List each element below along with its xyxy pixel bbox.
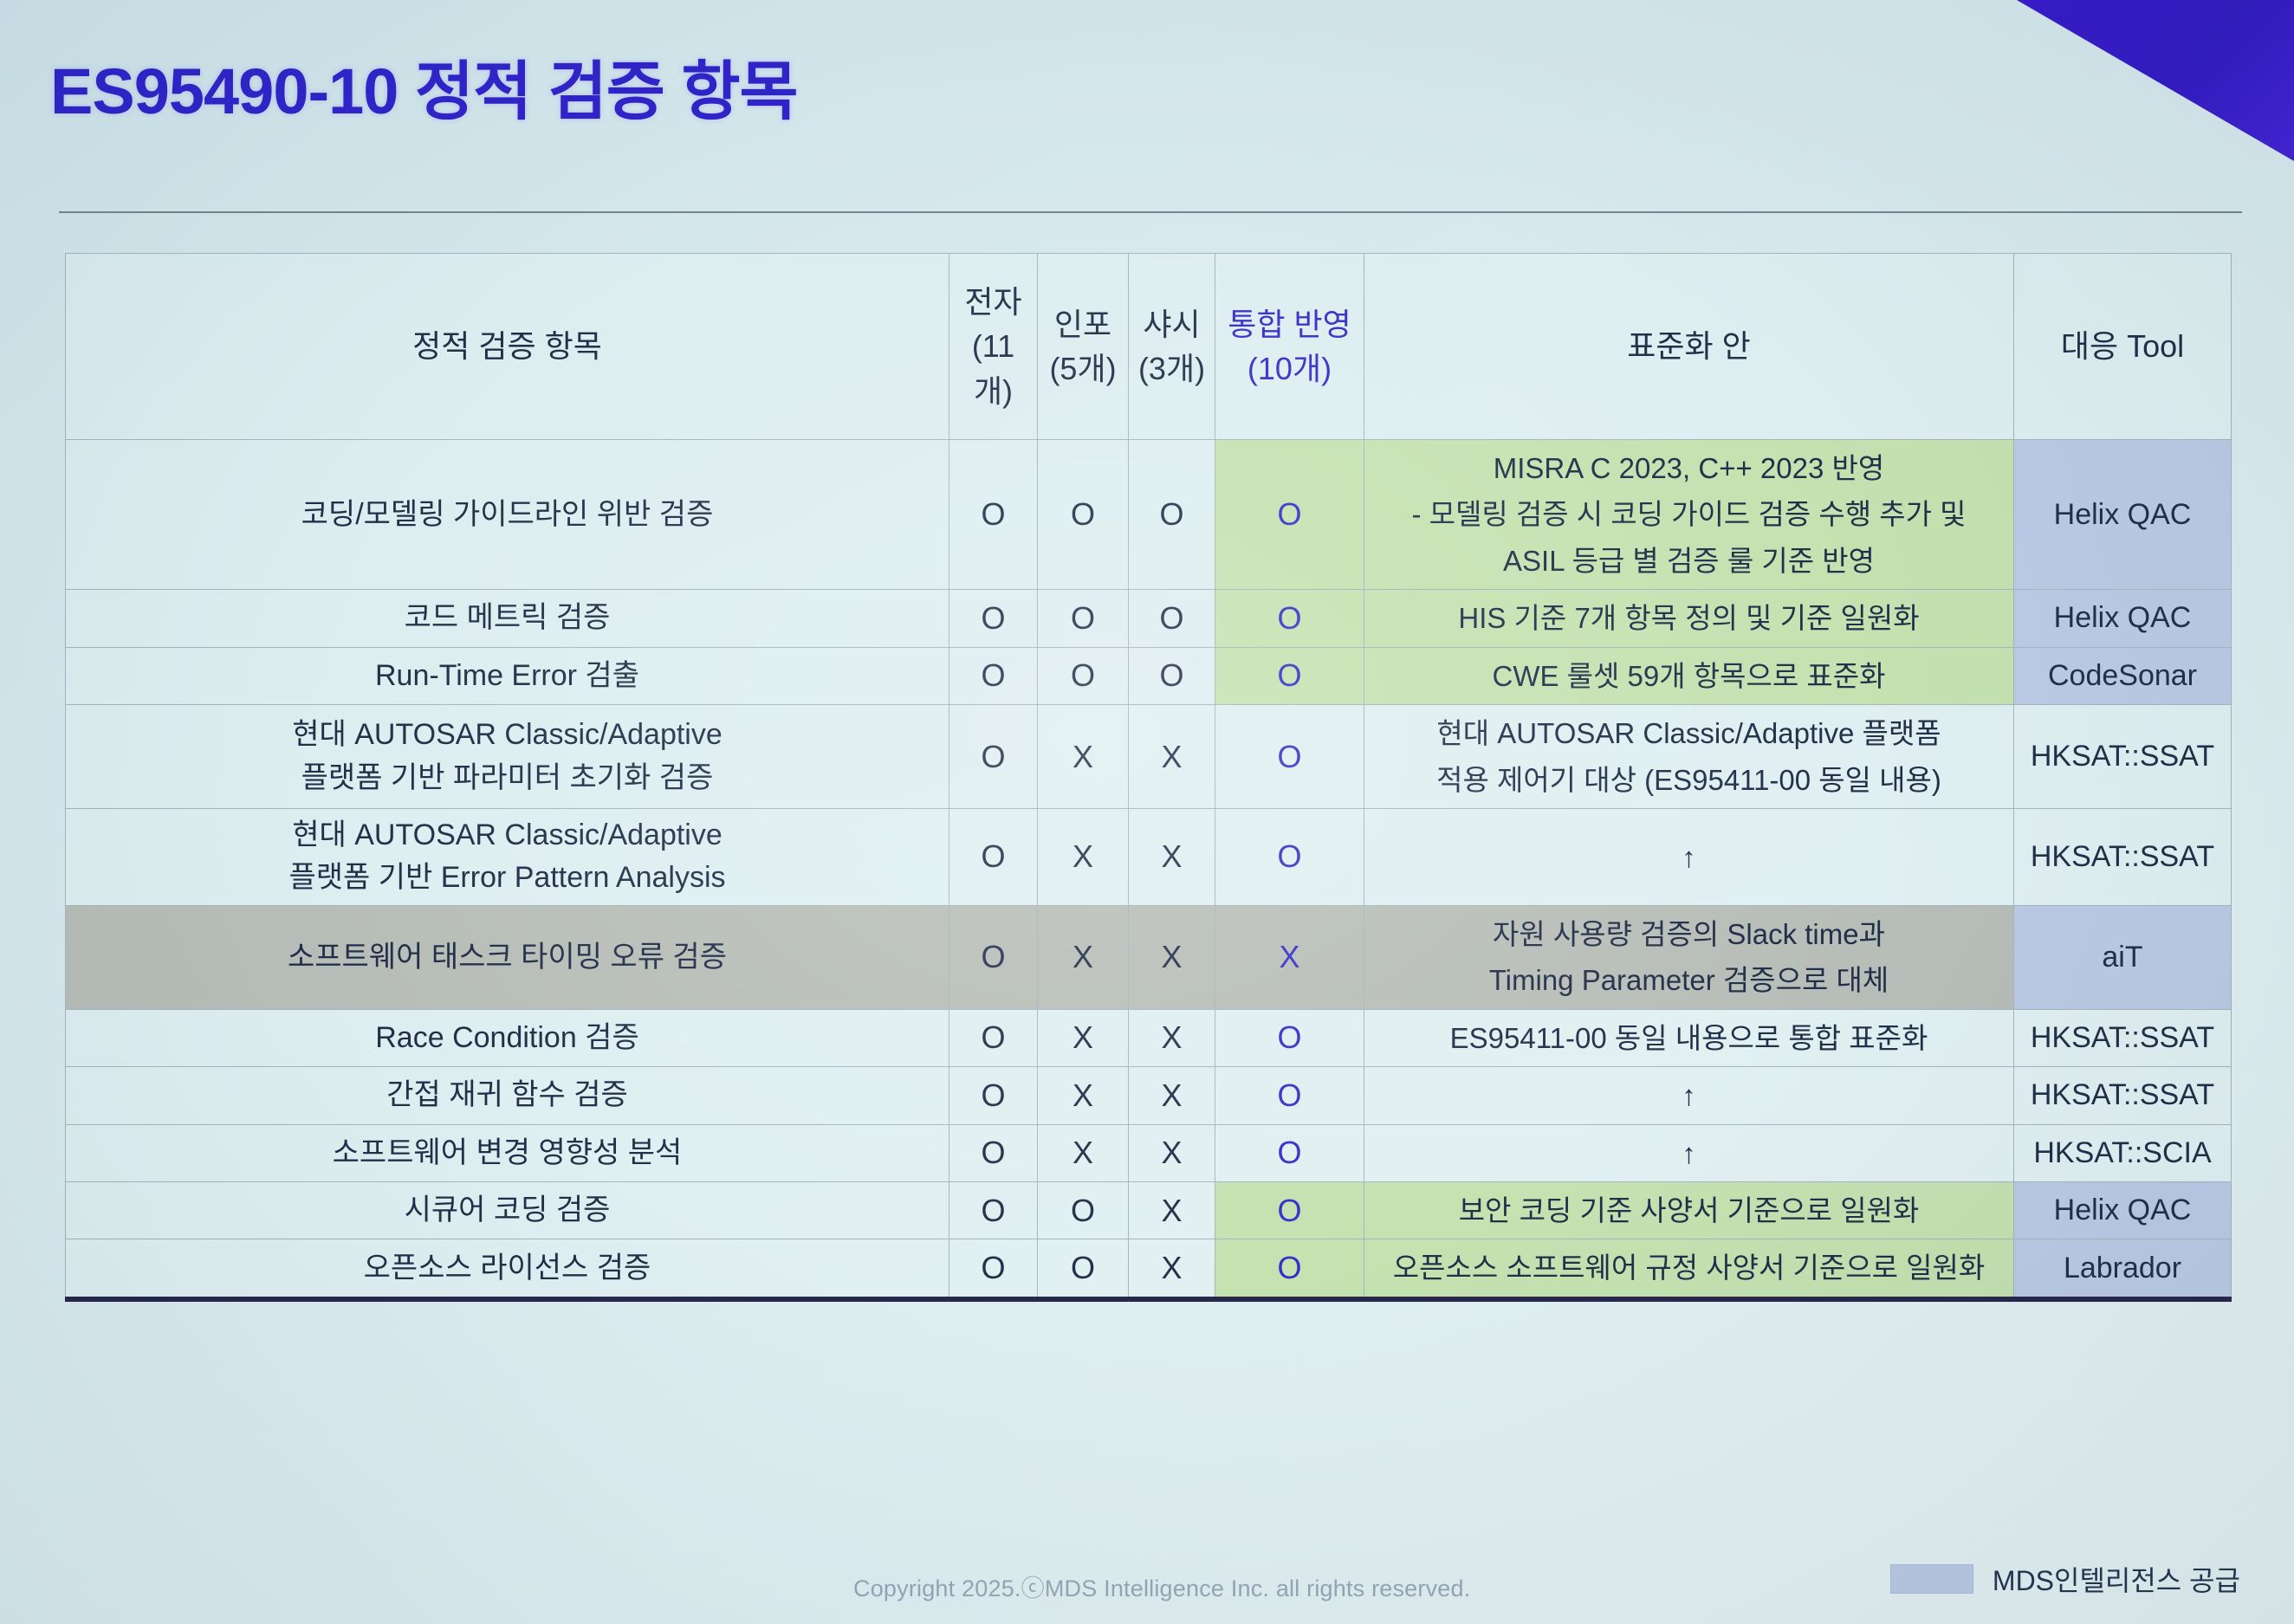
cell-mark-integrated: O [1215, 809, 1364, 906]
brand-label: MDS인텔리전스 공급 [1993, 1559, 2240, 1599]
item-line: 시큐어 코딩 검증 [73, 1189, 942, 1232]
cell-standardization-plan: ↑ [1364, 809, 2014, 906]
standardization-line: MISRA C 2023, C++ 2023 반영 [1371, 445, 2006, 491]
cell-tool: CodeSonar [2014, 647, 2232, 704]
cell-mark-integrated: O [1215, 440, 1364, 590]
cell-standardization-plan: 자원 사용량 검증의 Slack time과Timing Parameter 검… [1364, 905, 2014, 1009]
cell-tool: Helix QAC [2014, 590, 2232, 647]
cell-mark-electronics: O [949, 1182, 1038, 1239]
cell-verification-item: Race Condition 검증 [66, 1009, 949, 1066]
column-header-label: 대응 Tool [2021, 324, 2224, 368]
column-header-count: (5개) [1045, 346, 1121, 391]
cell-verification-item: 현대 AUTOSAR Classic/Adaptive플랫폼 기반 파라미터 초… [66, 705, 949, 809]
verification-items-table-wrap: 정적 검증 항목전자(11개)인포(5개)샤시(3개)통합 반영(10개)표준화… [65, 253, 2231, 1302]
cell-verification-item: Run-Time Error 검출 [66, 647, 949, 704]
cell-mark-chassis: X [1129, 1009, 1215, 1066]
item-line: 코딩/모델링 가이드라인 위반 검증 [73, 494, 942, 536]
column-header-label: 정적 검증 항목 [73, 324, 942, 368]
cell-verification-item: 코딩/모델링 가이드라인 위반 검증 [66, 440, 949, 590]
cell-mark-electronics: O [949, 590, 1038, 647]
cell-tool: aiT [2014, 905, 2232, 1009]
standardization-line: 자원 사용량 검증의 Slack time과 [1371, 911, 2006, 957]
cell-mark-integrated: O [1215, 705, 1364, 809]
cell-verification-item: 간접 재귀 함수 검증 [66, 1067, 949, 1124]
cell-mark-info: X [1038, 705, 1129, 809]
standardization-line: Timing Parameter 검증으로 대체 [1371, 957, 2006, 1003]
cell-mark-integrated: O [1215, 1182, 1364, 1239]
cell-verification-item: 시큐어 코딩 검증 [66, 1182, 949, 1239]
cell-mark-chassis: X [1129, 1239, 1215, 1299]
cell-mark-electronics: O [949, 705, 1038, 809]
standardization-line: 적용 제어기 대상 (ES95411-00 동일 내용) [1371, 757, 2006, 803]
item-line: 현대 AUTOSAR Classic/Adaptive [73, 814, 942, 857]
cell-mark-electronics: O [949, 809, 1038, 906]
standardization-line: - 모델링 검증 시 코딩 가이드 검증 수행 추가 및 [1371, 491, 2006, 537]
column-header-label: 표준화 안 [1371, 324, 2006, 368]
cell-mark-chassis: X [1129, 809, 1215, 906]
table-row: 소프트웨어 태스크 타이밍 오류 검증OXXX자원 사용량 검증의 Slack … [66, 905, 2232, 1009]
cell-mark-integrated: X [1215, 905, 1364, 1009]
corner-accent-triangle [2017, 0, 2294, 161]
table-row: Run-Time Error 검출OOOOCWE 룰셋 59개 항목으로 표준화… [66, 647, 2232, 704]
column-header-count: (11개) [956, 324, 1030, 412]
cell-verification-item: 소프트웨어 변경 영향성 분석 [66, 1124, 949, 1181]
cell-mark-chassis: X [1129, 1124, 1215, 1181]
column-header-6: 대응 Tool [2014, 254, 2232, 440]
standardization-line: ES95411-00 동일 내용으로 통합 표준화 [1371, 1015, 2006, 1061]
cell-mark-integrated: O [1215, 647, 1364, 704]
cell-mark-info: X [1038, 1067, 1129, 1124]
table-row: 오픈소스 라이선스 검증OOXO오픈소스 소프트웨어 규정 사양서 기준으로 일… [66, 1239, 2232, 1299]
cell-mark-integrated: O [1215, 1239, 1364, 1299]
cell-mark-integrated: O [1215, 1009, 1364, 1066]
item-line: 코드 메트릭 검증 [73, 597, 942, 639]
cell-verification-item: 소프트웨어 태스크 타이밍 오류 검증 [66, 905, 949, 1009]
cell-mark-info: O [1038, 1182, 1129, 1239]
column-header-count: (3개) [1136, 346, 1208, 391]
cell-mark-info: O [1038, 440, 1129, 590]
cell-mark-chassis: X [1129, 1067, 1215, 1124]
table-body: 코딩/모델링 가이드라인 위반 검증OOOOMISRA C 2023, C++ … [66, 440, 2232, 1299]
table-row: 현대 AUTOSAR Classic/Adaptive플랫폼 기반 파라미터 초… [66, 705, 2232, 809]
standardization-line: HIS 기준 7개 항목 정의 및 기준 일원화 [1371, 595, 2006, 641]
cell-mark-info: X [1038, 905, 1129, 1009]
table-row: 소프트웨어 변경 영향성 분석OXXO↑HKSAT::SCIA [66, 1124, 2232, 1181]
cell-mark-info: O [1038, 590, 1129, 647]
column-header-4: 통합 반영(10개) [1215, 254, 1364, 440]
cell-mark-electronics: O [949, 905, 1038, 1009]
table-row: 시큐어 코딩 검증OOXO보안 코딩 기준 사양서 기준으로 일원화Helix … [66, 1182, 2232, 1239]
table-header-row: 정적 검증 항목전자(11개)인포(5개)샤시(3개)통합 반영(10개)표준화… [66, 254, 2232, 440]
standardization-line: 현대 AUTOSAR Classic/Adaptive 플랫폼 [1371, 710, 2006, 756]
cell-mark-info: O [1038, 647, 1129, 704]
cell-mark-info: X [1038, 1124, 1129, 1181]
cell-mark-info: X [1038, 809, 1129, 906]
table-header: 정적 검증 항목전자(11개)인포(5개)샤시(3개)통합 반영(10개)표준화… [66, 254, 2232, 440]
cell-standardization-plan: ↑ [1364, 1124, 2014, 1181]
cell-mark-chassis: X [1129, 705, 1215, 809]
column-header-label: 통합 반영 [1222, 302, 1357, 346]
standardization-line: ↑ [1371, 1130, 2006, 1176]
column-header-3: 샤시(3개) [1129, 254, 1215, 440]
column-header-count: (10개) [1222, 346, 1357, 391]
column-header-1: 전자(11개) [949, 254, 1038, 440]
slide-canvas: ES95490-10 정적 검증 항목 정적 검증 항목전자(11개)인포(5개… [0, 0, 2294, 1624]
cell-tool: HKSAT::SSAT [2014, 809, 2232, 906]
cell-standardization-plan: HIS 기준 7개 항목 정의 및 기준 일원화 [1364, 590, 2014, 647]
cell-mark-chassis: O [1129, 440, 1215, 590]
cell-mark-info: O [1038, 1239, 1129, 1299]
column-header-2: 인포(5개) [1038, 254, 1129, 440]
cell-tool: Helix QAC [2014, 1182, 2232, 1239]
cell-mark-electronics: O [949, 1239, 1038, 1299]
table-row: 간접 재귀 함수 검증OXXO↑HKSAT::SSAT [66, 1067, 2232, 1124]
cell-tool: HKSAT::SSAT [2014, 1067, 2232, 1124]
legend-swatch-icon [1890, 1564, 1973, 1594]
cell-tool: Labrador [2014, 1239, 2232, 1299]
cell-mark-chassis: X [1129, 1182, 1215, 1239]
item-line: Run-Time Error 검출 [73, 655, 942, 697]
column-header-5: 표준화 안 [1364, 254, 2014, 440]
cell-mark-electronics: O [949, 440, 1038, 590]
cell-mark-electronics: O [949, 647, 1038, 704]
cell-mark-chassis: O [1129, 647, 1215, 704]
cell-tool: HKSAT::SSAT [2014, 1009, 2232, 1066]
cell-standardization-plan: 보안 코딩 기준 사양서 기준으로 일원화 [1364, 1182, 2014, 1239]
cell-standardization-plan: ↑ [1364, 1067, 2014, 1124]
cell-standardization-plan: ES95411-00 동일 내용으로 통합 표준화 [1364, 1009, 2014, 1066]
standardization-line: 오픈소스 소프트웨어 규정 사양서 기준으로 일원화 [1371, 1245, 2006, 1291]
item-line: 소프트웨어 태스크 타이밍 오류 검증 [73, 936, 942, 979]
cell-mark-electronics: O [949, 1124, 1038, 1181]
cell-standardization-plan: CWE 룰셋 59개 항목으로 표준화 [1364, 647, 2014, 704]
standardization-line: ASIL 등급 별 검증 룰 기준 반영 [1371, 538, 2006, 584]
item-line: 오픈소스 라이선스 검증 [73, 1247, 942, 1290]
standardization-line: ↑ [1371, 1072, 2006, 1118]
table-row: 현대 AUTOSAR Classic/Adaptive플랫폼 기반 Error … [66, 809, 2232, 906]
cell-verification-item: 오픈소스 라이선스 검증 [66, 1239, 949, 1299]
item-line: Race Condition 검증 [73, 1017, 942, 1059]
item-line: 플랫폼 기반 파라미터 초기화 검증 [73, 757, 942, 799]
copyright-text: Copyright 2025.ⓒMDS Intelligence Inc. al… [853, 1569, 1470, 1603]
item-line: 플랫폼 기반 Error Pattern Analysis [73, 857, 942, 899]
cell-mark-electronics: O [949, 1009, 1038, 1066]
column-header-label: 인포 [1045, 302, 1121, 346]
cell-mark-chassis: O [1129, 590, 1215, 647]
page-title: ES95490-10 정적 검증 항목 [50, 40, 798, 133]
verification-items-table: 정적 검증 항목전자(11개)인포(5개)샤시(3개)통합 반영(10개)표준화… [65, 253, 2232, 1302]
table-row: 코딩/모델링 가이드라인 위반 검증OOOOMISRA C 2023, C++ … [66, 440, 2232, 590]
cell-verification-item: 현대 AUTOSAR Classic/Adaptive플랫폼 기반 Error … [66, 809, 949, 906]
cell-mark-integrated: O [1215, 1124, 1364, 1181]
table-row: 코드 메트릭 검증OOOOHIS 기준 7개 항목 정의 및 기준 일원화Hel… [66, 590, 2232, 647]
table-row: Race Condition 검증OXXOES95411-00 동일 내용으로 … [66, 1009, 2232, 1066]
cell-tool: Helix QAC [2014, 440, 2232, 590]
cell-tool: HKSAT::SCIA [2014, 1124, 2232, 1181]
item-line: 현대 AUTOSAR Classic/Adaptive [73, 714, 942, 756]
brand-legend: MDS인텔리전스 공급 [1890, 1559, 2240, 1599]
cell-mark-integrated: O [1215, 590, 1364, 647]
standardization-line: 보안 코딩 기준 사양서 기준으로 일원화 [1371, 1187, 2006, 1233]
cell-mark-info: X [1038, 1009, 1129, 1066]
column-header-0: 정적 검증 항목 [66, 254, 949, 440]
cell-standardization-plan: 오픈소스 소프트웨어 규정 사양서 기준으로 일원화 [1364, 1239, 2014, 1299]
cell-mark-chassis: X [1129, 905, 1215, 1009]
cell-mark-integrated: O [1215, 1067, 1364, 1124]
cell-verification-item: 코드 메트릭 검증 [66, 590, 949, 647]
item-line: 소프트웨어 변경 영향성 분석 [73, 1132, 942, 1174]
cell-standardization-plan: 현대 AUTOSAR Classic/Adaptive 플랫폼적용 제어기 대상… [1364, 705, 2014, 809]
item-line: 간접 재귀 함수 검증 [73, 1074, 942, 1116]
cell-standardization-plan: MISRA C 2023, C++ 2023 반영 - 모델링 검증 시 코딩 … [1364, 440, 2014, 590]
standardization-line: ↑ [1371, 834, 2006, 880]
standardization-line: CWE 룰셋 59개 항목으로 표준화 [1371, 653, 2006, 699]
cell-mark-electronics: O [949, 1067, 1038, 1124]
column-header-label: 전자 [956, 280, 1030, 324]
title-divider [59, 211, 2242, 213]
column-header-label: 샤시 [1136, 302, 1208, 346]
cell-tool: HKSAT::SSAT [2014, 705, 2232, 809]
